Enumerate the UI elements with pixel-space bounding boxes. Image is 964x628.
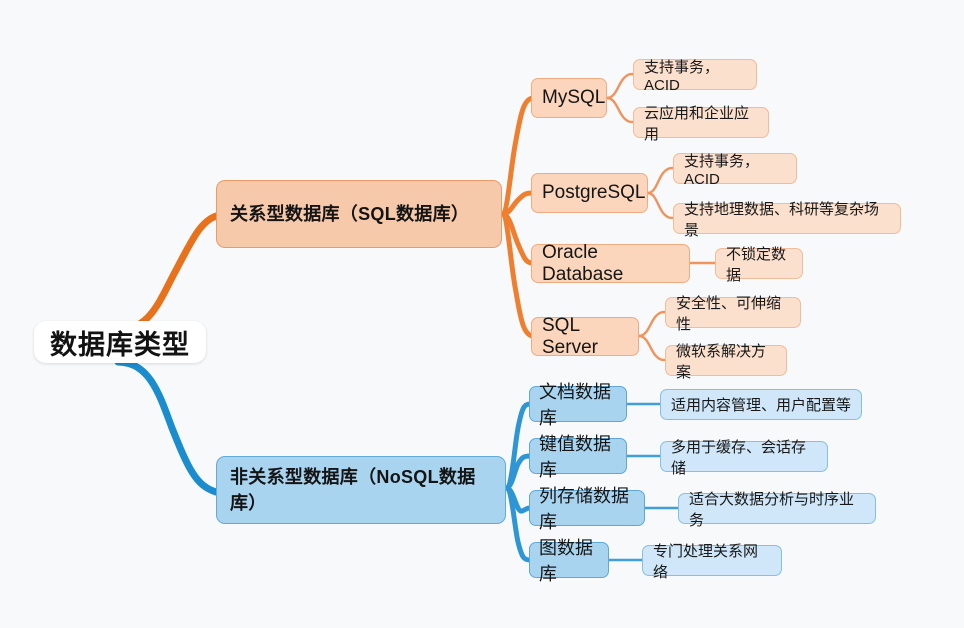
sub-node-graph-db-label: 图数据库: [539, 534, 599, 586]
leaf-node-keyvalue-usecase[interactable]: 多用于缓存、会话存储: [660, 441, 828, 472]
sub-node-document-db-label: 文档数据库: [539, 378, 617, 430]
leaf-node-mysql-acid[interactable]: 支持事务，ACID: [633, 59, 757, 90]
mindmap-canvas: 数据库类型 关系型数据库（SQL数据库） 非关系型数据库（NoSQL数据库） M…: [0, 0, 964, 628]
branch-node-sql-label: 关系型数据库（SQL数据库）: [230, 201, 469, 227]
edge-mysql-leaf-1: [607, 74, 634, 98]
sub-node-sql-server-label: SQL Server: [542, 315, 628, 359]
leaf-node-mysql-cloud-enterprise[interactable]: 云应用和企业应用: [633, 107, 769, 138]
edge-nosql-to-document: [506, 404, 530, 488]
leaf-node-keyvalue-usecase-label: 多用于缓存、会话存储: [671, 436, 817, 478]
leaf-node-document-usecase-label: 适用内容管理、用户配置等: [671, 394, 851, 415]
leaf-node-postgresql-acid-label: 支持事务，ACID: [684, 150, 786, 188]
branch-node-sql[interactable]: 关系型数据库（SQL数据库）: [216, 180, 502, 248]
leaf-node-mysql-acid-label: 支持事务，ACID: [644, 56, 746, 94]
leaf-node-sqlserver-microsoft-label: 微软系解决方案: [676, 340, 776, 382]
edge-sql-to-mysql: [502, 98, 532, 214]
leaf-node-oracle-no-lock-label: 不锁定数据: [726, 243, 792, 285]
leaf-node-document-usecase[interactable]: 适用内容管理、用户配置等: [660, 389, 862, 420]
leaf-node-columnar-usecase-label: 适合大数据分析与时序业务: [689, 488, 865, 530]
edge-root-to-nosql: [118, 362, 216, 492]
root-node-label: 数据库类型: [50, 323, 190, 362]
sub-node-oracle-database[interactable]: Oracle Database: [531, 244, 690, 283]
leaf-node-sqlserver-security-label: 安全性、可伸缩性: [676, 292, 790, 334]
leaf-node-postgresql-geo-research-label: 支持地理数据、科研等复杂场景: [684, 198, 890, 240]
edge-sqlserver-leaf-1: [639, 312, 666, 336]
sub-node-graph-db[interactable]: 图数据库: [529, 542, 609, 578]
edge-mysql-leaf-2: [607, 98, 634, 122]
sub-node-columnar-db[interactable]: 列存储数据库: [529, 490, 645, 526]
edge-postgresql-leaf-1: [648, 168, 674, 193]
branch-node-nosql-label: 非关系型数据库（NoSQL数据库）: [230, 464, 492, 516]
sub-node-mysql[interactable]: MySQL: [531, 78, 607, 118]
branch-node-nosql[interactable]: 非关系型数据库（NoSQL数据库）: [216, 456, 506, 524]
sub-node-sql-server[interactable]: SQL Server: [531, 317, 639, 356]
sub-node-keyvalue-db-label: 键值数据库: [539, 430, 617, 482]
sub-node-postgresql-label: PostgreSQL: [542, 182, 646, 204]
leaf-node-graph-usecase-label: 专门处理关系网络: [653, 540, 771, 582]
edge-postgresql-leaf-2: [648, 193, 674, 218]
edge-nosql-to-graph: [506, 488, 530, 560]
sub-node-oracle-database-label: Oracle Database: [542, 242, 679, 286]
leaf-node-columnar-usecase[interactable]: 适合大数据分析与时序业务: [678, 493, 876, 524]
leaf-node-sqlserver-microsoft[interactable]: 微软系解决方案: [665, 345, 787, 376]
leaf-node-graph-usecase[interactable]: 专门处理关系网络: [642, 545, 782, 576]
sub-node-mysql-label: MySQL: [542, 87, 605, 109]
leaf-node-oracle-no-lock[interactable]: 不锁定数据: [715, 248, 803, 279]
leaf-node-mysql-cloud-enterprise-label: 云应用和企业应用: [644, 102, 758, 144]
leaf-node-sqlserver-security[interactable]: 安全性、可伸缩性: [665, 297, 801, 328]
connector-layer: [0, 0, 964, 628]
leaf-node-postgresql-acid[interactable]: 支持事务，ACID: [673, 153, 797, 184]
edge-sql-to-sqlserver: [502, 214, 532, 336]
leaf-node-postgresql-geo-research[interactable]: 支持地理数据、科研等复杂场景: [673, 203, 901, 234]
root-node[interactable]: 数据库类型: [34, 321, 206, 363]
sub-node-columnar-db-label: 列存储数据库: [539, 482, 635, 534]
edge-sqlserver-leaf-2: [639, 336, 666, 360]
sub-node-postgresql[interactable]: PostgreSQL: [531, 173, 648, 213]
sub-node-keyvalue-db[interactable]: 键值数据库: [529, 438, 627, 474]
sub-node-document-db[interactable]: 文档数据库: [529, 386, 627, 422]
edge-root-to-sql: [118, 216, 216, 330]
